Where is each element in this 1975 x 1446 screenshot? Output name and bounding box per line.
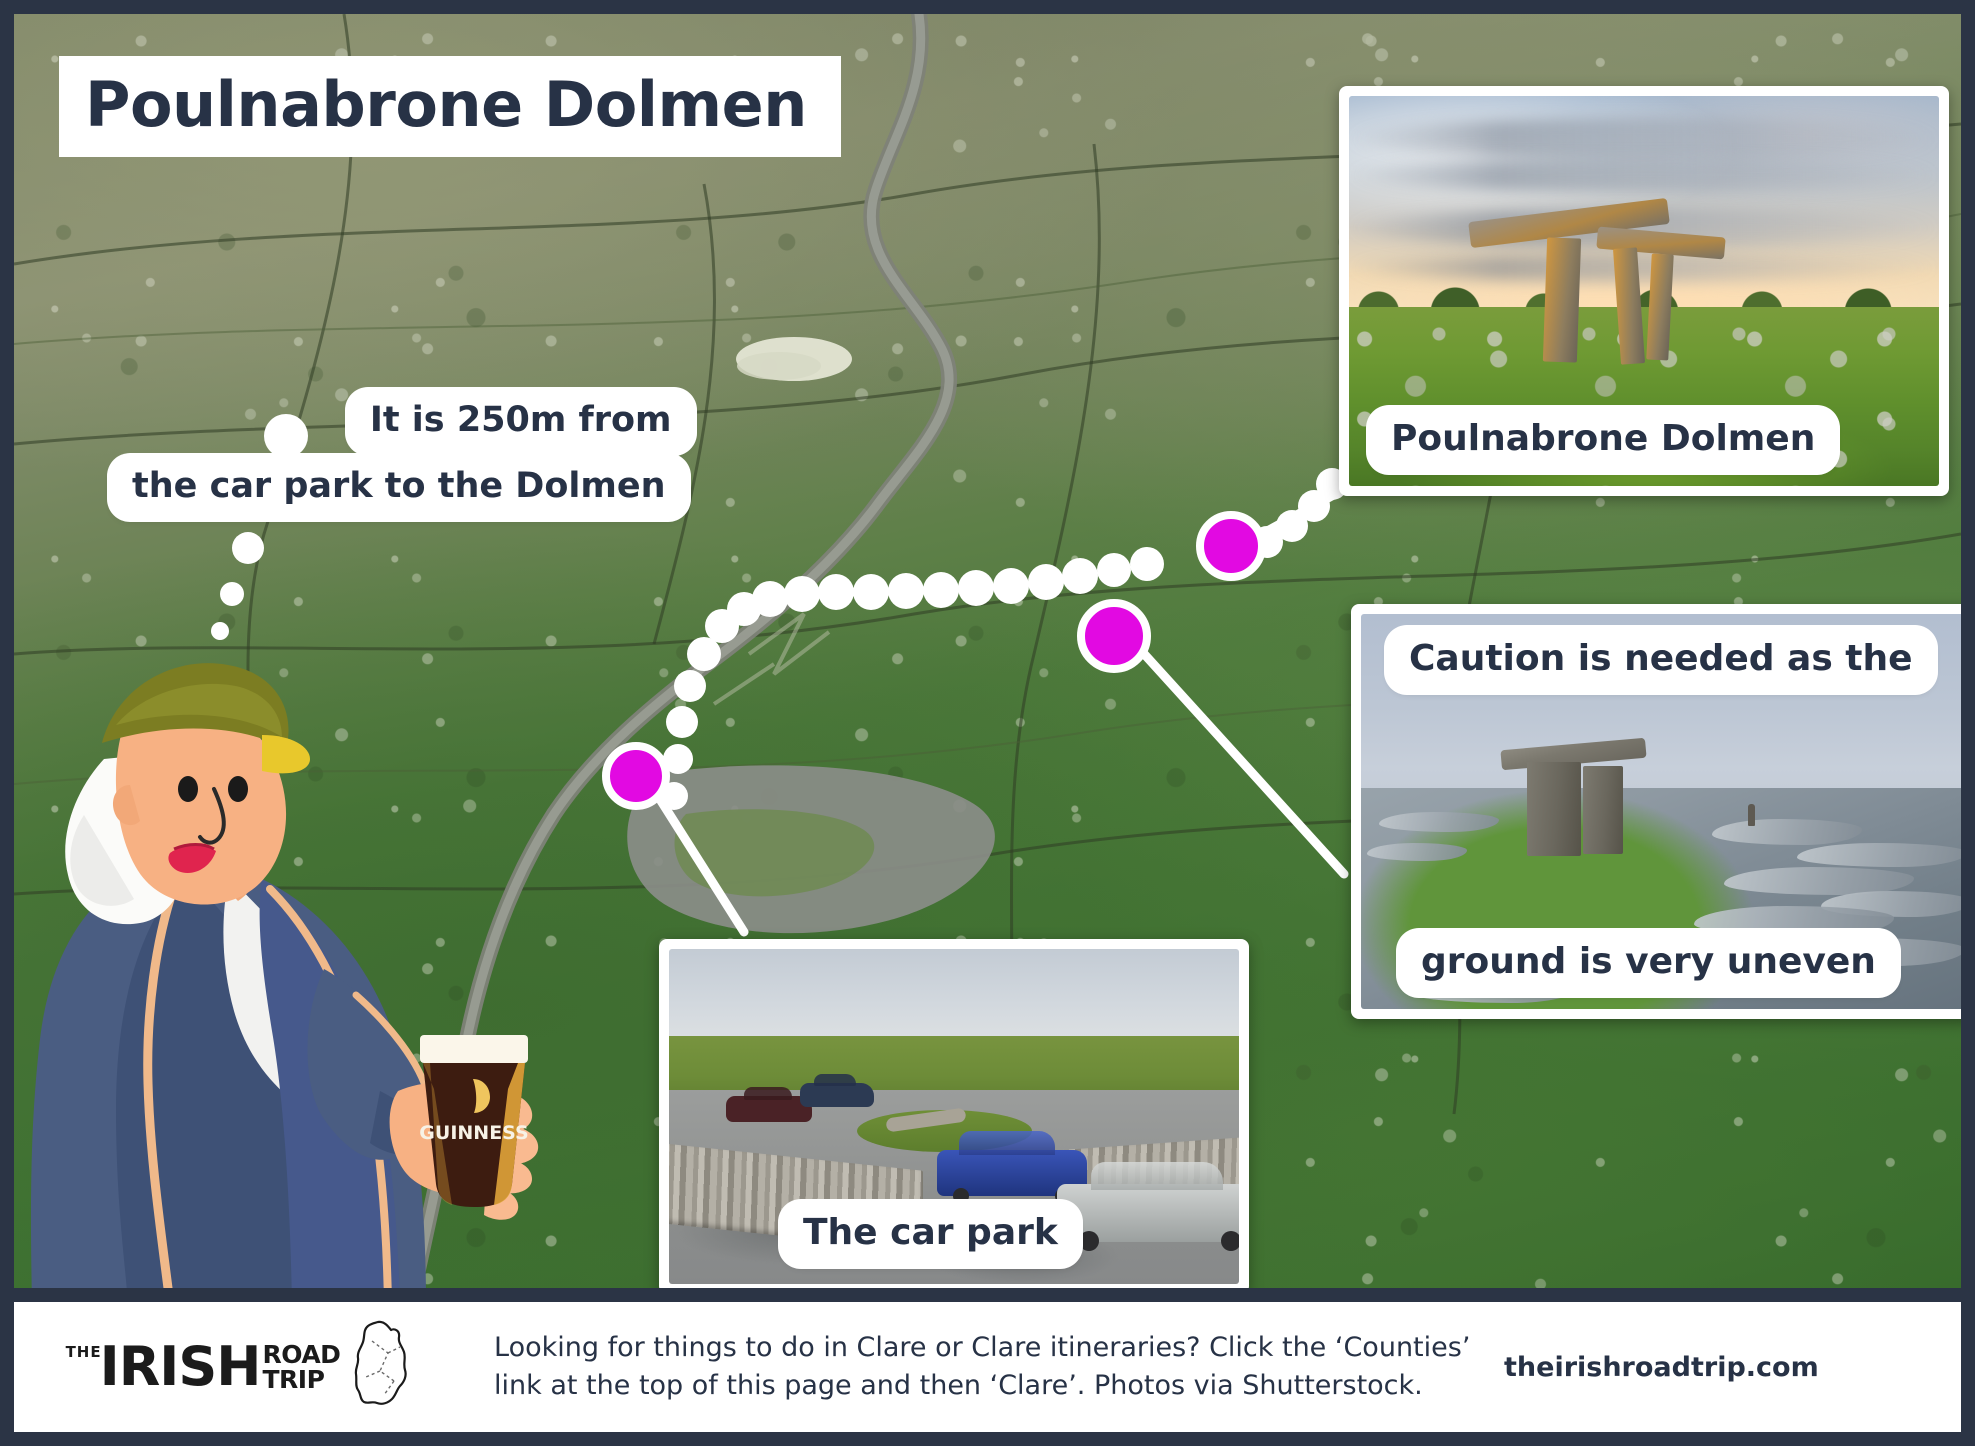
- carpark-sky: [669, 949, 1239, 1050]
- marker-car-park[interactable]: [602, 742, 670, 810]
- photo-caution-caption-top-wrap: Caution is needed as the: [1391, 632, 1931, 688]
- marker-dolmen[interactable]: [1196, 511, 1266, 581]
- page-title: Poulnabrone Dolmen: [59, 56, 841, 157]
- character-cap-brim: [262, 735, 310, 773]
- footer-note-text: Looking for things to do in Clare or Cla…: [434, 1329, 1504, 1406]
- photo-carpark-image: The car park: [669, 949, 1239, 1284]
- logo-road-text: ROAD: [262, 1342, 340, 1368]
- distance-callout: It is 250m from the car park to the Dolm…: [114, 394, 690, 515]
- dolmen-misty: [1501, 744, 1681, 864]
- distance-callout-line2: the car park to the Dolmen: [114, 460, 684, 515]
- dolmen-leg-misty-right: [1583, 766, 1623, 854]
- dolmen-leg-mid: [1613, 247, 1645, 364]
- infographic-page: Poulnabrone Dolmen It is 250m from the c…: [0, 0, 1975, 1446]
- photo-dolmen-caption: Poulnabrone Dolmen: [1373, 412, 1833, 468]
- logo-roadtrip-text: ROAD TRIP: [262, 1342, 340, 1393]
- marker-trail-midpoint[interactable]: [1077, 599, 1151, 673]
- ireland-map-icon: [350, 1319, 412, 1416]
- photo-carpark-caption: The car park: [785, 1206, 1076, 1262]
- character-eye-right: [228, 776, 248, 802]
- car-distant-navy: [800, 1083, 874, 1107]
- distance-callout-line1: It is 250m from: [352, 394, 690, 449]
- brand-logo[interactable]: THE IRISH ROAD TRIP: [14, 1319, 434, 1416]
- dolmen-leg-right: [1646, 253, 1674, 360]
- cloud-band-2: [1349, 158, 1939, 192]
- satellite-map: Poulnabrone Dolmen It is 250m from the c…: [14, 14, 1961, 1288]
- car-distant-maroon: [726, 1096, 812, 1122]
- dolmen-structure: [1469, 196, 1729, 366]
- thought-dot-1: [211, 622, 229, 640]
- guinness-wordmark: GUINNESS: [419, 1122, 528, 1144]
- logo-irish-text: IRISH: [100, 1340, 261, 1394]
- photo-caution-caption-top: Caution is needed as the: [1391, 632, 1931, 688]
- cartoon-character: GUINNESS: [24, 639, 584, 1288]
- photo-caution-caption-bottom: ground is very uneven: [1403, 935, 1894, 991]
- page-title-text: Poulnabrone Dolmen: [85, 72, 807, 137]
- footer-website-link[interactable]: theirishroadtrip.com: [1504, 1352, 1869, 1383]
- photo-card-caution[interactable]: Caution is needed as the ground is very …: [1351, 604, 1961, 1019]
- photo-caution-caption-bottom-wrap: ground is very uneven: [1403, 935, 1894, 991]
- character-eye-left: [178, 776, 198, 802]
- car-silver-saloon: [1057, 1184, 1239, 1242]
- dolmen-leg-misty-left: [1527, 762, 1581, 856]
- photo-carpark-caption-wrap: The car park: [785, 1206, 1076, 1262]
- cloud-band-1: [1349, 118, 1939, 160]
- photo-caution-image: Caution is needed as the ground is very …: [1361, 614, 1961, 1009]
- photo-card-carpark[interactable]: The car park: [659, 939, 1249, 1288]
- photo-dolmen-image: Poulnabrone Dolmen: [1349, 96, 1939, 486]
- logo-trip-text: TRIP: [262, 1367, 340, 1393]
- dolmen-leg-left: [1543, 237, 1581, 362]
- logo-the-text: THE: [66, 1343, 102, 1361]
- photo-card-dolmen[interactable]: Poulnabrone Dolmen: [1339, 86, 1949, 496]
- guinness-head: [420, 1035, 528, 1063]
- photo-dolmen-caption-wrap: Poulnabrone Dolmen: [1373, 412, 1833, 468]
- walking-visitor: [1748, 804, 1755, 826]
- footer-bar: THE IRISH ROAD TRIP Looking for things: [14, 1302, 1961, 1432]
- thought-dot-3: [232, 532, 264, 564]
- thought-dot-2: [220, 582, 244, 606]
